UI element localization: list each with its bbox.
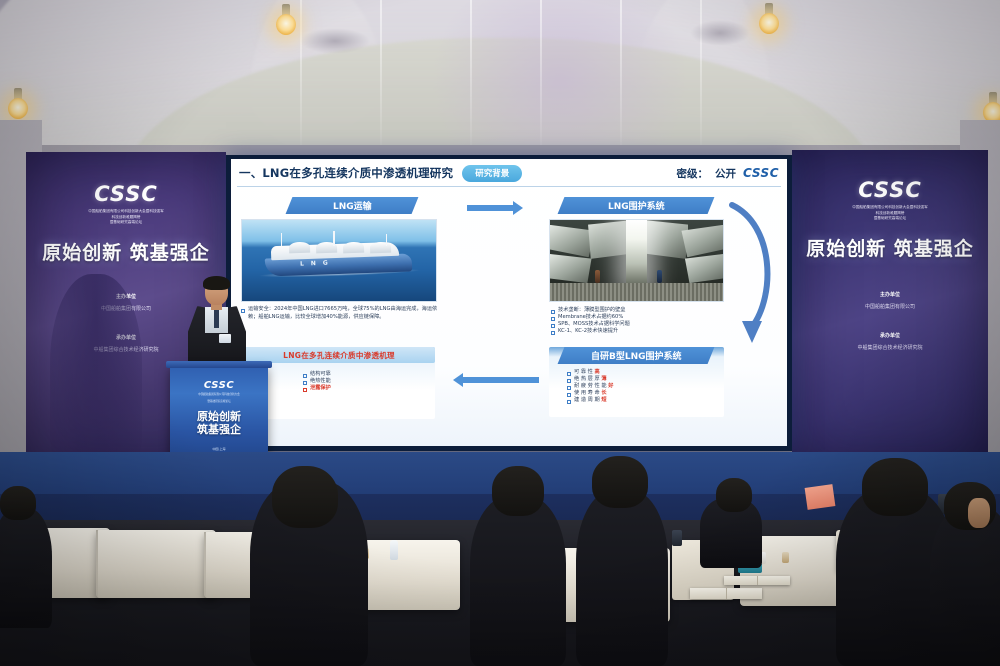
slide-header: 一、LNG在多孔连续介质中渗透机理研究 研究背景 密级： 公开 CSSC (231, 159, 787, 187)
podium-slogan-line-2: 筑基强企 (170, 424, 268, 437)
bullet-marker (567, 379, 571, 383)
speaker-person (186, 278, 248, 370)
slide-header-right: 密级： 公开 CSSC (676, 166, 779, 181)
audience-face (968, 498, 990, 528)
ceiling-shadow (690, 20, 750, 46)
audience-head (592, 456, 648, 508)
list-item: Membrane技术占据约60% (551, 314, 731, 321)
speaker-tie (214, 309, 219, 328)
containment-system-photo (549, 219, 724, 302)
bullet-marker (551, 317, 555, 321)
bullet-marker (567, 386, 571, 390)
ship-hull-lettering: LNG (300, 259, 335, 267)
bullet-marker (567, 372, 571, 376)
drape-fold (540, 0, 542, 160)
audience-head (716, 478, 752, 512)
drink-cup (782, 552, 789, 563)
podium-subtitle-line-1: 中国船舶集团有限公司科技创新大会 (170, 393, 268, 398)
banner-slogan: 原始创新 筑基强企 (792, 234, 988, 261)
bullet-marker (551, 310, 555, 314)
lng-carrier-photo: LNG (241, 219, 437, 302)
worker-figure (657, 270, 662, 283)
audience-member (0, 508, 52, 628)
speaker-hair (203, 276, 230, 290)
banner-subtitle-line-3: 暨基础研究高端论坛 (792, 216, 988, 222)
flow-arrow-left (453, 373, 539, 387)
transport-note-text: 运输安全：2024年中国LNG进口7665万吨，全球75%的LNG由海运完成，海… (248, 306, 441, 321)
bullet-marker (567, 393, 571, 397)
audience-head (862, 458, 928, 516)
banner-logo: CSSC (26, 182, 226, 206)
flow-step-3-label-front: 自研B型LNG围护系统 (558, 347, 715, 364)
banner-host-label: 主办单位 (792, 291, 988, 298)
bullet-marker (303, 388, 307, 392)
list-item: 耐 疲 劳 性 能 好 (567, 383, 727, 390)
audience-head (492, 466, 544, 516)
podium-logo: CSSC (170, 380, 268, 391)
audience-member (930, 506, 1000, 666)
water-bottle (390, 540, 398, 560)
banner-shadow (50, 274, 142, 472)
audience-head (272, 466, 338, 528)
btype-point-text: 建 造 周 期 短 (574, 397, 607, 404)
audience-head (0, 486, 36, 520)
list-item: 建 造 周 期 短 (567, 397, 727, 404)
list-item: 绝热性能 (303, 378, 433, 385)
speaker-name-badge (219, 334, 231, 343)
drape-fold (470, 0, 472, 160)
list-item: 技术垄断：薄膜型围护的壁垒 (551, 307, 731, 314)
drape-fold (620, 0, 622, 160)
bullet-marker (303, 381, 307, 385)
projection-screen: 一、LNG在多孔连续介质中渗透机理研究 研究背景 密级： 公开 CSSC LNG… (226, 155, 792, 451)
drape-fold (380, 0, 382, 160)
flow-step-1-label: LNG运输 (286, 197, 419, 214)
bullet-marker (551, 324, 555, 328)
bullet-marker (567, 400, 571, 404)
btype-point-text: 耐 疲 劳 性 能 好 (574, 383, 613, 390)
pendant-light-bulb (5, 88, 31, 122)
ceiling-shadow (300, 28, 370, 54)
flow-step-2-label: LNG围护系统 (558, 197, 715, 214)
list-item: 可 靠 性 高 (567, 369, 727, 376)
list-item: 使 用 寿 命 长 (567, 390, 727, 397)
btype-point-text: 使 用 寿 命 长 (574, 390, 607, 397)
ceiling-light-tint (430, 0, 690, 160)
podium-top-surface (166, 361, 272, 368)
list-item: KC-1、KC-2技术快速提升 (551, 328, 731, 335)
slide-body: LNG运输 LNG围护系统 (231, 187, 787, 446)
smartphone (672, 530, 682, 546)
bullet-marker (551, 331, 555, 335)
banner-organizer-label: 承办单位 (792, 332, 988, 339)
btype-point-text: 绝 热 层 厚 薄 (574, 376, 607, 383)
list-item: 结构可靠 (303, 371, 433, 378)
flow-step-4-label: LNG在多孔连续介质中渗透机理 (243, 347, 435, 363)
containment-points-block: 技术垄断：薄膜型围护的壁垒 Membrane技术占据约60% SPB、MOSS技… (551, 307, 731, 335)
slide-title: 一、LNG在多孔连续介质中渗透机理研究 (239, 165, 453, 181)
backdrop-banner-right: CSSC 中国船舶集团有限公司科技创新大会暨科技强军 科技创新难题揭榜 暨基础研… (792, 150, 988, 472)
banner-subtitle-line-3: 暨基础研究高端论坛 (26, 220, 226, 226)
bullet-marker (303, 374, 307, 378)
slide-section-badge: 研究背景 (462, 165, 522, 182)
pendant-light-bulb (756, 3, 782, 37)
audience-member (470, 496, 566, 666)
open-notebook (690, 588, 762, 599)
draped-ceiling (0, 0, 1000, 162)
open-notebook (724, 576, 790, 585)
mechanism-points-block: 结构可靠 绝热性能 泄露保护 (303, 371, 433, 392)
flow-arrow-curved (726, 199, 784, 347)
pendant-light-bulb (273, 4, 299, 38)
banner-host-name: 中国船舶集团有限公司 (792, 303, 988, 310)
list-item: SPB、MOSS技术占据科学问题 (551, 321, 731, 328)
audience-member (576, 490, 668, 666)
btype-point-text: 可 靠 性 高 (574, 369, 600, 376)
worker-figure (595, 270, 600, 283)
drape-fold (300, 0, 302, 160)
list-item: 泄露保护 (303, 385, 433, 392)
list-item: 绝 热 层 厚 薄 (567, 376, 727, 383)
flow-arrow-right (467, 201, 523, 215)
podium-subtitle-line-2: 暨基础研究高端论坛 (170, 400, 268, 405)
conference-hall-scene: CSSC 中国船舶集团有限公司科技创新大会暨科技强军 科技创新难题揭榜 暨基础研… (0, 0, 1000, 666)
btype-points-block: 可 靠 性 高 绝 热 层 厚 薄 耐 疲 劳 性 能 好 (567, 369, 727, 404)
sofa-seat (96, 530, 216, 598)
cssc-logo: CSSC (743, 166, 779, 180)
transport-note-block: 运输安全：2024年中国LNG进口7665万吨，全球75%的LNG由海运完成，海… (241, 306, 441, 321)
security-level-value: 公开 (715, 166, 736, 181)
security-level-label: 密级： (676, 166, 708, 181)
banner-organizer-name: 中船集团综合技术经济研究院 (792, 344, 988, 351)
banner-logo: CSSC (792, 178, 988, 202)
presentation-slide: 一、LNG在多孔连续介质中渗透机理研究 研究背景 密级： 公开 CSSC LNG… (231, 159, 787, 446)
banner-slogan: 原始创新 筑基强企 (26, 238, 226, 265)
pink-paper-sheet (805, 484, 836, 510)
